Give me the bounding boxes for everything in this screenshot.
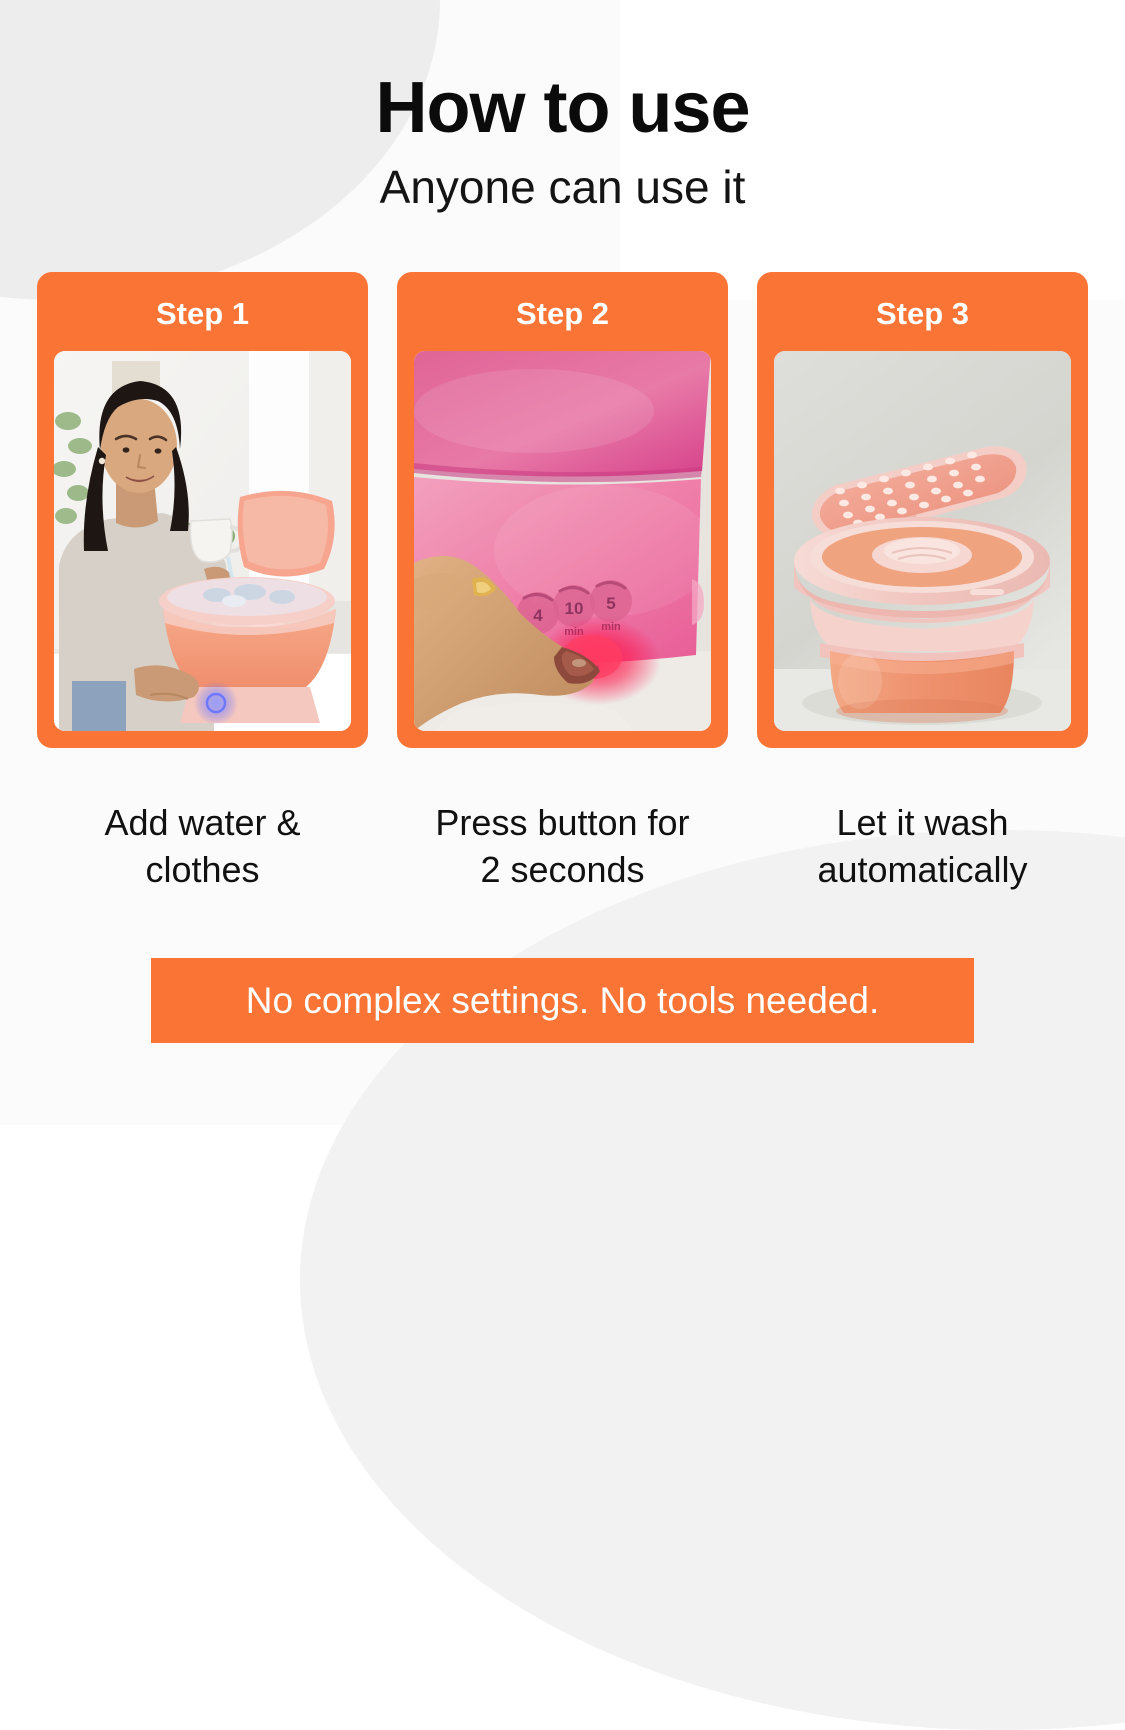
step-caption-2-line2: 2 seconds [397, 847, 728, 894]
steps-row: Step 1 [0, 272, 1125, 748]
footer-banner-wrap: No complex settings. No tools needed. [0, 958, 1125, 1043]
svg-text:5: 5 [606, 594, 615, 613]
captions-row: Add water & clothes Press button for 2 s… [0, 800, 1125, 894]
step-caption-2: Press button for 2 seconds [397, 800, 728, 894]
svg-text:4: 4 [533, 606, 543, 625]
step-caption-1: Add water & clothes [37, 800, 368, 894]
collapsible-washer-product-illustration [774, 351, 1071, 731]
step-card-2[interactable]: Step 2 [397, 272, 728, 748]
page-title: How to use [0, 72, 1125, 144]
how-to-use-infographic: How to use Anyone can use it Step 1 [0, 0, 1125, 1125]
step-badge-3: Step 3 [774, 272, 1071, 351]
step-card-3[interactable]: Step 3 [757, 272, 1088, 748]
step-photo-3 [774, 351, 1071, 731]
footer-banner: No complex settings. No tools needed. [151, 958, 974, 1043]
step-badge-2: Step 2 [414, 272, 711, 351]
footer-banner-text: No complex settings. No tools needed. [246, 982, 879, 1019]
step-photo-2: 4 min 10 min 5 min [414, 351, 711, 731]
step-caption-1-line2: clothes [37, 847, 368, 894]
step-card-1[interactable]: Step 1 [37, 272, 368, 748]
step-caption-3-line1: Let it wash [757, 800, 1088, 847]
step-photo-1 [54, 351, 351, 731]
svg-text:10: 10 [565, 599, 584, 618]
step-badge-1: Step 1 [54, 272, 351, 351]
woman-adding-water-illustration [54, 351, 351, 731]
step-caption-3: Let it wash automatically [757, 800, 1088, 894]
step-caption-1-line1: Add water & [37, 800, 368, 847]
page-subtitle: Anyone can use it [0, 164, 1125, 210]
step-caption-3-line2: automatically [757, 847, 1088, 894]
pressing-power-button-illustration: 4 min 10 min 5 min [414, 351, 711, 731]
header: How to use Anyone can use it [0, 0, 1125, 210]
step-caption-2-line1: Press button for [397, 800, 728, 847]
